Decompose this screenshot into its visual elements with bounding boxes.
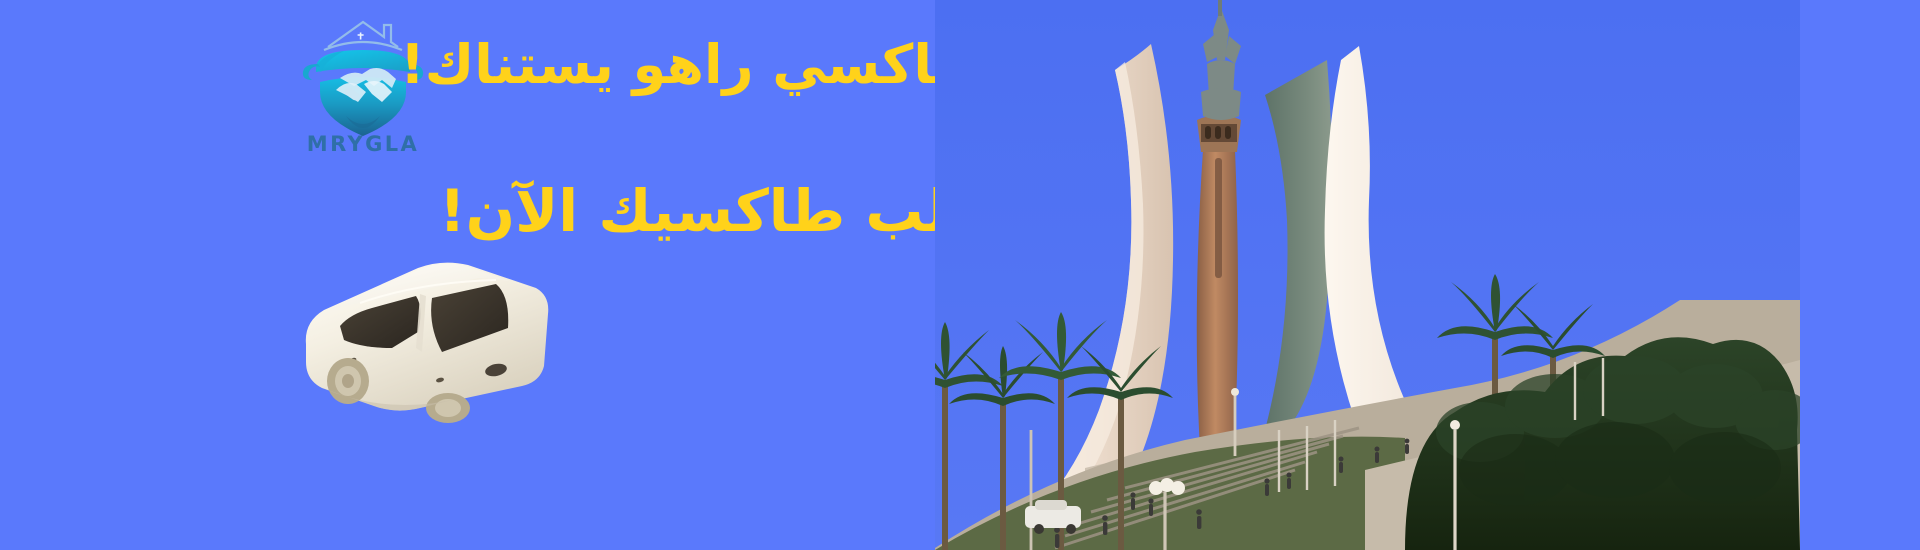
logo-wordmark: MRYGLA — [296, 132, 430, 156]
white-car-icon — [300, 248, 560, 423]
logo-dome — [316, 50, 410, 72]
monument-photo — [935, 0, 1800, 550]
headline-line-1: الطاكسي راهو يستناك! — [400, 38, 1025, 92]
car-wheel-front — [426, 393, 470, 423]
taxi-promo-banner: MRYGLA الطاكسي راهو يستناك! أطلب طاكسيك … — [0, 0, 1920, 550]
logo-tip-left — [303, 64, 320, 80]
car-wheel-rear — [327, 358, 369, 404]
maqam-echahid-photo-icon — [935, 0, 1800, 550]
roof-cross-icon — [358, 33, 364, 40]
car-illustration — [300, 248, 560, 423]
house-roof-icon — [324, 22, 402, 50]
